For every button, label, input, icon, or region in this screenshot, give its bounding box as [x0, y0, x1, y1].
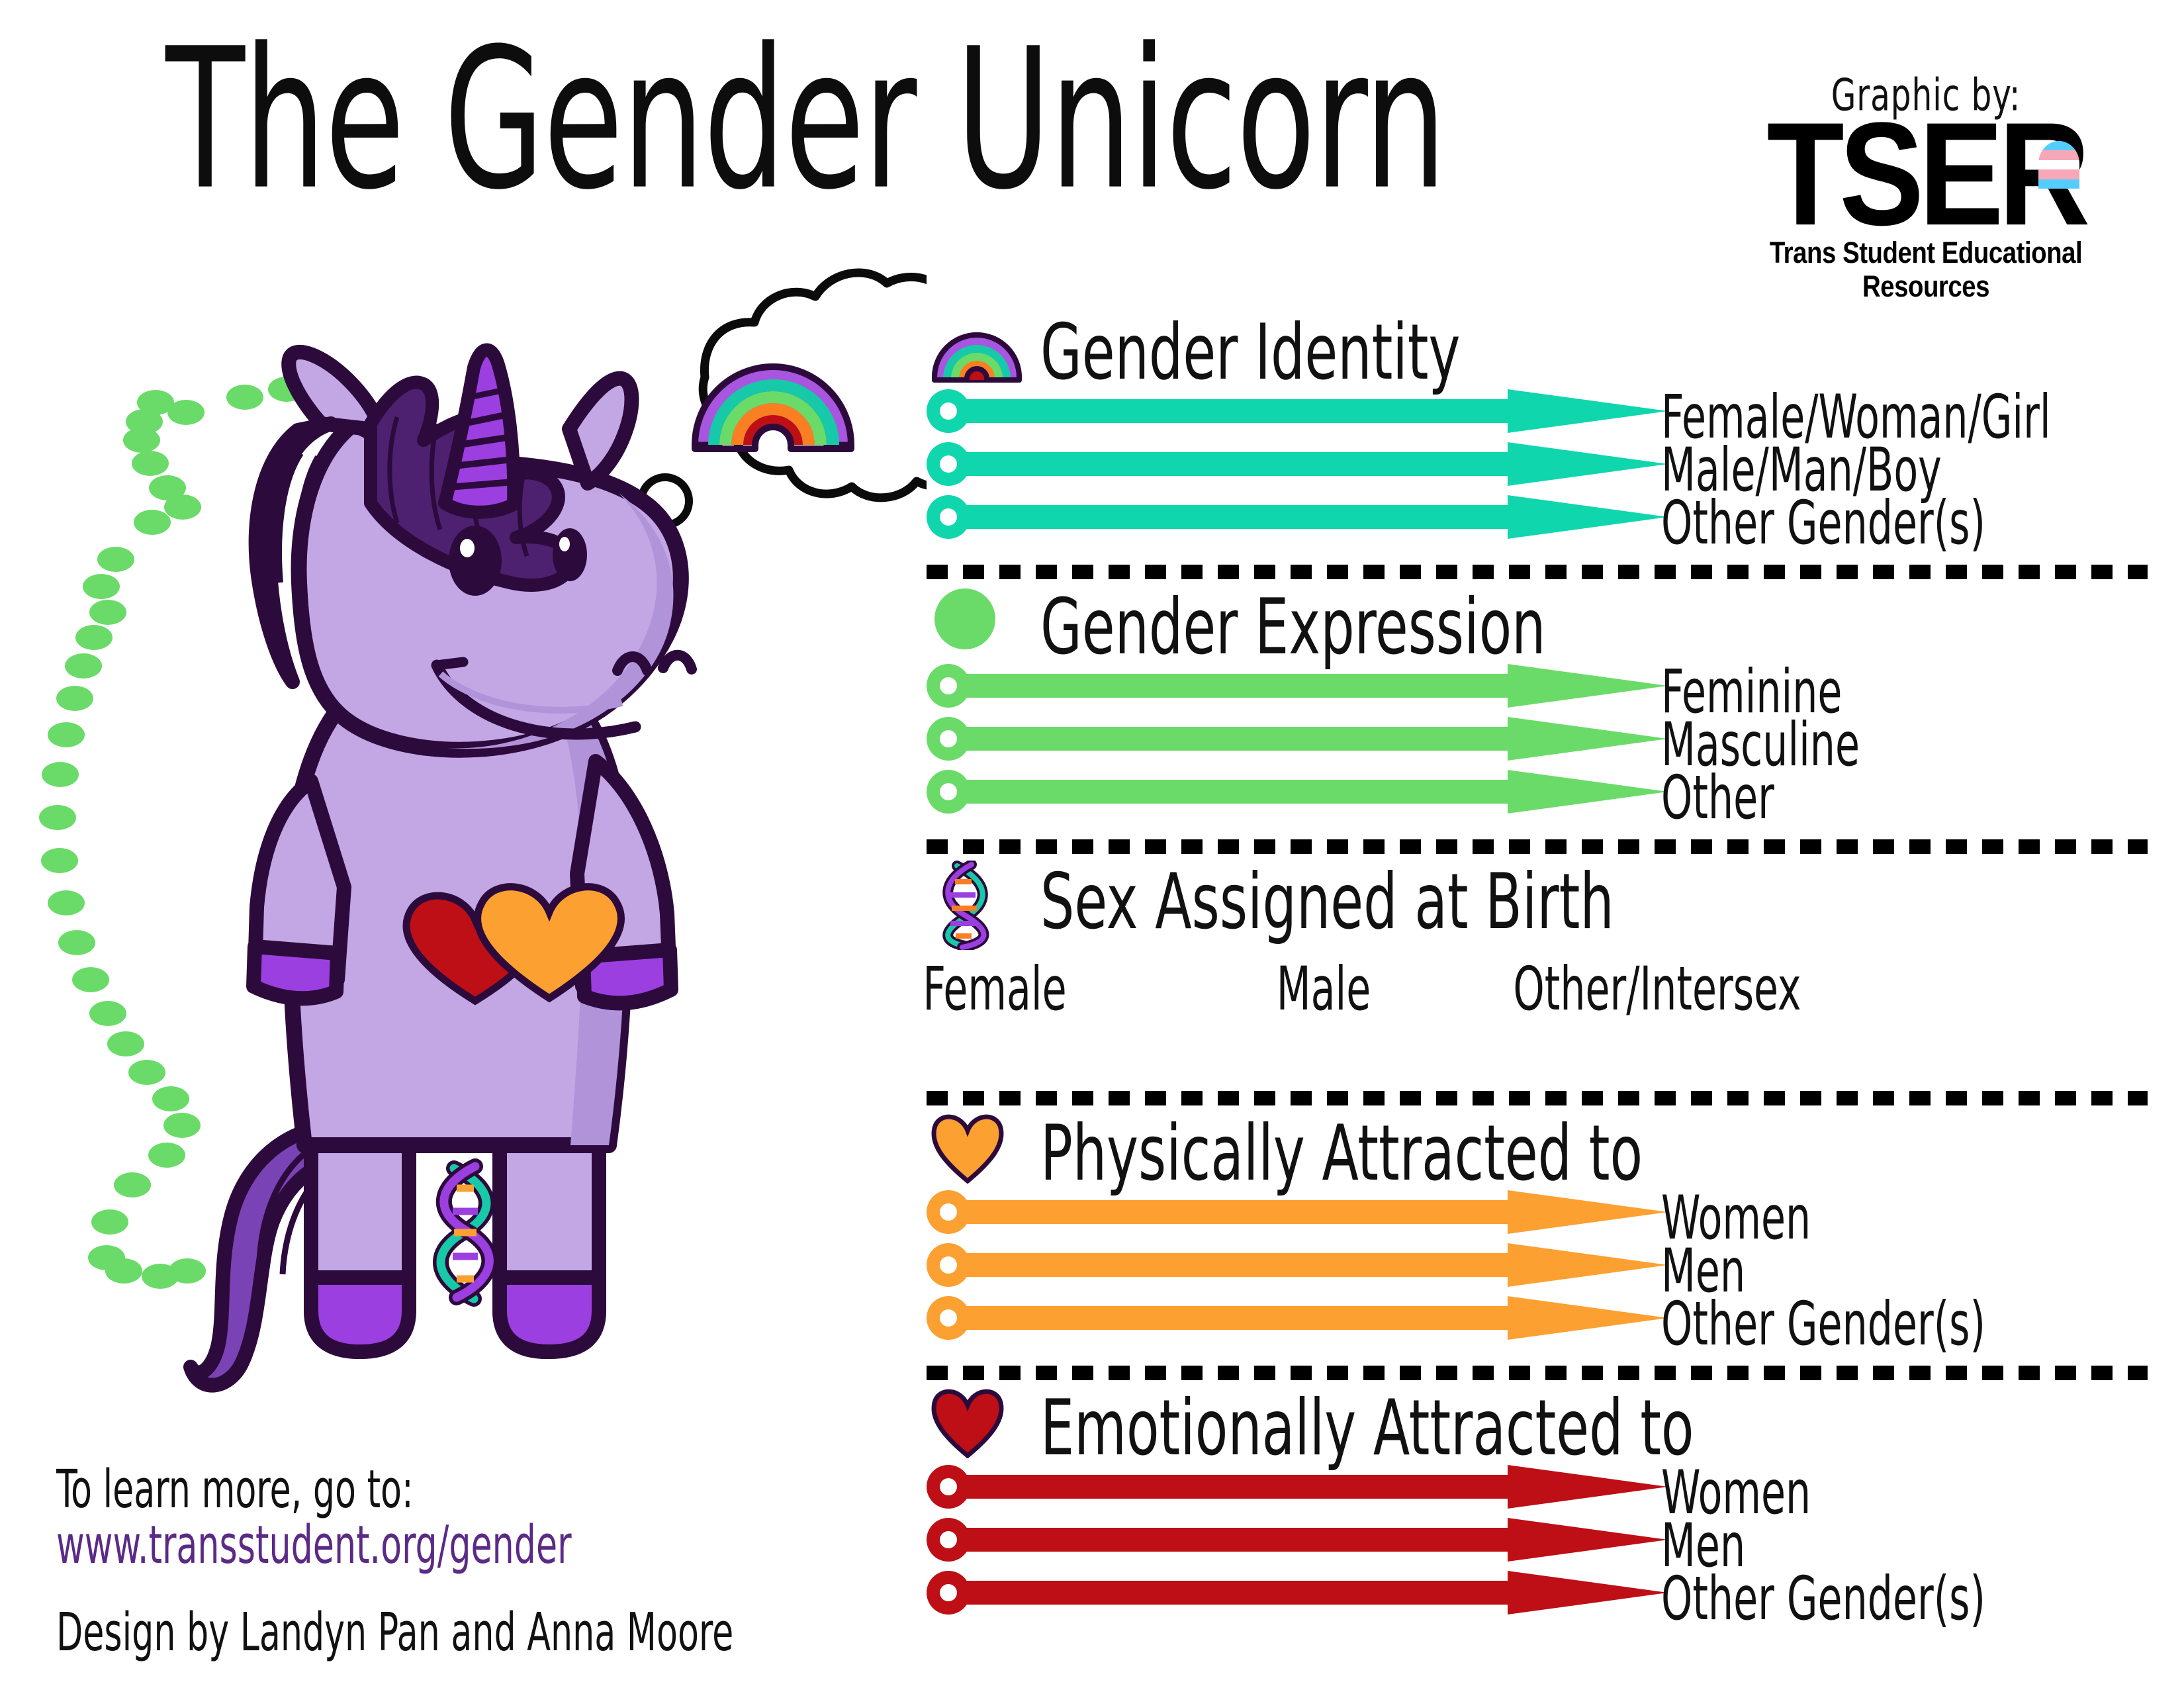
transstudent-link[interactable]: www.transstudent.org/gender [56, 1512, 572, 1579]
dna-badge-icon [441, 1166, 489, 1299]
arrow-row[interactable]: Men [927, 1243, 2144, 1287]
dna-icon [931, 861, 1023, 932]
rainbow-icon [931, 311, 1023, 383]
section-emotionally-attracted-to: Emotionally Attracted to Women Men [927, 1387, 2144, 1624]
footer-learn-more: To learn more, go to: www.transstudent.o… [56, 1456, 642, 1568]
poster-canvas: The Gender Unicorn Graphic by: TSER Tran… [0, 0, 2184, 1688]
section-divider [927, 1366, 2148, 1380]
arrow-label: Other Gender(s) [1661, 1563, 1985, 1634]
attribution-block: Graphic by: TSER Trans Student Education… [1721, 70, 2131, 296]
tser-logo: TSER [1721, 121, 2131, 227]
section-gender-expression: Gender Expression Feminine Masculine [927, 586, 2144, 823]
arrow-row[interactable]: Other Gender(s) [927, 1296, 2144, 1340]
sab-option-male[interactable]: Male [1244, 953, 1403, 1012]
arrow-label: Other Gender(s) [1661, 1288, 1985, 1359]
sex-assigned-options: Female Male Other/Intersex [927, 953, 2144, 1112]
green-circle-icon [931, 586, 1023, 657]
arrow-row[interactable]: Female/Woman/Girl [927, 389, 2144, 433]
unicorn-body [191, 350, 692, 1385]
section-gender-identity: Gender Identity Female/Woman/Girl Male/M… [927, 311, 2144, 548]
section-header: Gender Expression [927, 586, 2144, 664]
arrow-row[interactable]: Women [927, 1190, 2144, 1234]
section-divider [927, 839, 2148, 854]
tser-wordmark: TSER [1766, 104, 2085, 245]
arrow-row[interactable]: Other Gender(s) [927, 1571, 2144, 1615]
arrow-row[interactable]: Men [927, 1518, 2144, 1562]
arrow-row[interactable]: Feminine [927, 664, 2144, 708]
section-title: Physically Attracted to [1040, 1108, 1643, 1198]
trans-flag-icon [2038, 141, 2079, 189]
section-divider [927, 565, 2148, 579]
arrow-row[interactable]: Male/Man/Boy [927, 442, 2144, 486]
arrow-row[interactable]: Women [927, 1465, 2144, 1509]
section-title: Gender Expression [1040, 582, 1545, 672]
section-divider [927, 1091, 2148, 1105]
section-title: Sex Assigned at Birth [1040, 857, 1614, 947]
sab-option-female[interactable]: Female [913, 953, 1072, 1012]
design-credit: Design by Landyn Pan and Anna Moore [56, 1602, 733, 1663]
arrow-label: Other Gender(s) [1661, 487, 1985, 558]
red-heart-icon [931, 1387, 1023, 1458]
arrow-label: Other [1661, 762, 1774, 833]
sab-label: Male [1253, 953, 1393, 1024]
section-header: Physically Attracted to [927, 1112, 2144, 1190]
section-header: Emotionally Attracted to [927, 1387, 2144, 1465]
arrow-row[interactable]: Other Gender(s) [927, 495, 2144, 539]
section-sex-assigned-at-birth: Sex Assigned at Birth Female Male Other/… [927, 861, 2144, 1112]
section-header: Gender Identity [927, 311, 2144, 389]
unicorn-illustration [0, 0, 927, 1688]
tser-full-name: Trans Student Educational Resources [1729, 236, 2122, 305]
sab-option-other-intersex[interactable]: Other/Intersex [1496, 953, 1787, 1012]
arrow-row[interactable]: Masculine [927, 717, 2144, 761]
section-header: Sex Assigned at Birth [927, 861, 2144, 953]
sab-label: Other/Intersex [1513, 953, 1769, 1024]
orange-heart-icon [931, 1112, 1023, 1184]
section-title: Emotionally Attracted to [1040, 1383, 1694, 1473]
arrow-row[interactable]: Other [927, 770, 2144, 814]
section-physically-attracted-to: Physically Attracted to Women Men [927, 1112, 2144, 1349]
section-title: Gender Identity [1040, 307, 1460, 397]
sab-label: Female [923, 953, 1062, 1024]
